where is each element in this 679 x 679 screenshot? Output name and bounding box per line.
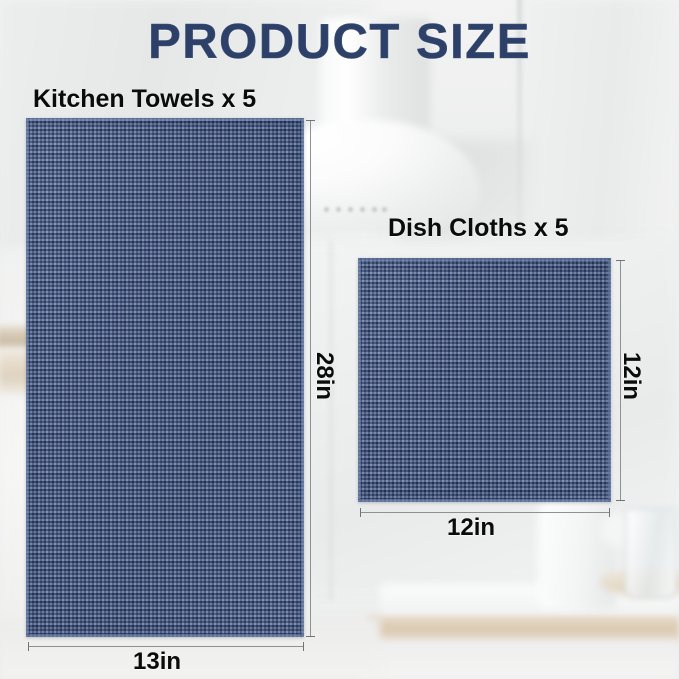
product-size-infographic: PRODUCT SIZE Kitchen Towels x 5 28in 13i…: [0, 0, 679, 679]
cloth-height-value: 12in: [617, 352, 645, 400]
towel-width-value: 13in: [133, 648, 181, 676]
range-hood-lights: [324, 206, 388, 214]
towel-width-tick-left: [28, 642, 29, 651]
cloth-width-tick-right: [609, 508, 610, 517]
towel-width-dimension-line: [28, 646, 304, 647]
towel-width-tick-right: [303, 642, 304, 651]
cloth-width-dimension-line: [360, 512, 610, 513]
cloth-height-tick-top: [616, 260, 625, 261]
cloth-height-tick-bottom: [616, 500, 625, 501]
page-title: PRODUCT SIZE: [0, 14, 679, 70]
counter-front: [360, 640, 679, 679]
towel-height-tick-bottom: [306, 636, 315, 637]
dish-cloth-swatch: [358, 258, 611, 502]
kitchen-towels-label: Kitchen Towels x 5: [33, 85, 256, 114]
dish-cloths-label: Dish Cloths x 5: [388, 214, 569, 243]
cloth-width-tick-left: [360, 508, 361, 517]
kitchen-towel-swatch: [26, 118, 304, 637]
towel-height-value: 28in: [310, 352, 338, 400]
cloth-width-value: 12in: [447, 514, 495, 542]
towel-height-tick-top: [306, 120, 315, 121]
drinking-glass: [625, 508, 677, 598]
wall-seam: [330, 240, 332, 600]
